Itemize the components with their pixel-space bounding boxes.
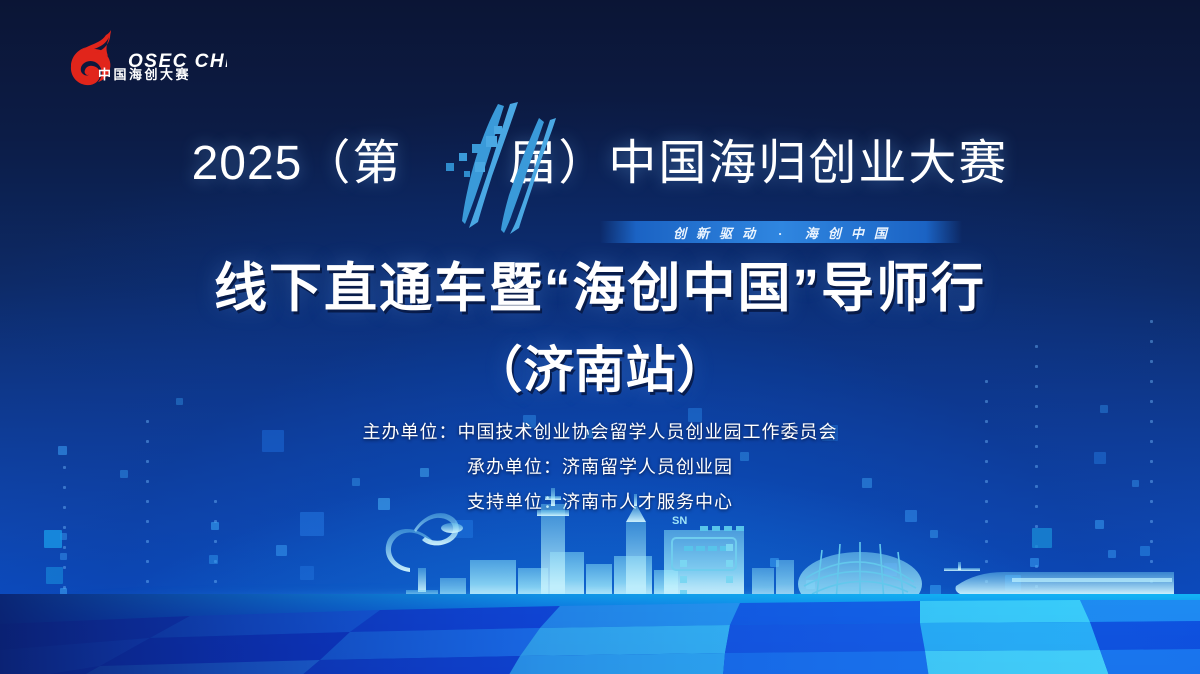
- event-poster: OSEC CHINA 中国海创大赛 2025（第届）中国海归创业大赛 创新驱动 …: [0, 0, 1200, 674]
- deco-square: [1100, 405, 1108, 413]
- building-sign-label: SN: [672, 515, 687, 527]
- jinan-city-skyline: SN: [0, 482, 1200, 612]
- city-scene: SN: [0, 484, 1200, 674]
- competition-title: 2025（第届）中国海归创业大赛: [192, 140, 1009, 188]
- headline-line-2: （济南站）: [0, 330, 1200, 402]
- headline-line-1: 线下直通车暨“海创中国”导师行: [0, 258, 1200, 319]
- organizer-host: 主办单位：中国技术创业协会留学人员创业园工作委员会: [0, 415, 1200, 450]
- spire-tower: [537, 488, 569, 600]
- ordinal-brush-mark-icon: [442, 96, 562, 236]
- high-speed-train-icon: [944, 562, 1174, 594]
- title-block: 2025（第届）中国海归创业大赛: [0, 140, 1200, 188]
- title-year: 2025: [192, 137, 303, 190]
- slogan-text: 创新驱动 · 海创中国: [673, 223, 897, 242]
- slogan-strip: 创新驱动 · 海创中国: [600, 221, 962, 243]
- organizer-coorganizer: 承办单位：济南留学人员创业园: [0, 450, 1200, 485]
- slim-tower: [626, 494, 646, 600]
- logo-chinese-name: 中国海创大赛: [98, 64, 191, 83]
- perspective-grid-floor: [0, 594, 1200, 674]
- sn-tower: SN: [664, 515, 744, 600]
- title-name: 中国海归创业大赛: [608, 137, 1008, 190]
- title-prefix: （第: [302, 137, 402, 190]
